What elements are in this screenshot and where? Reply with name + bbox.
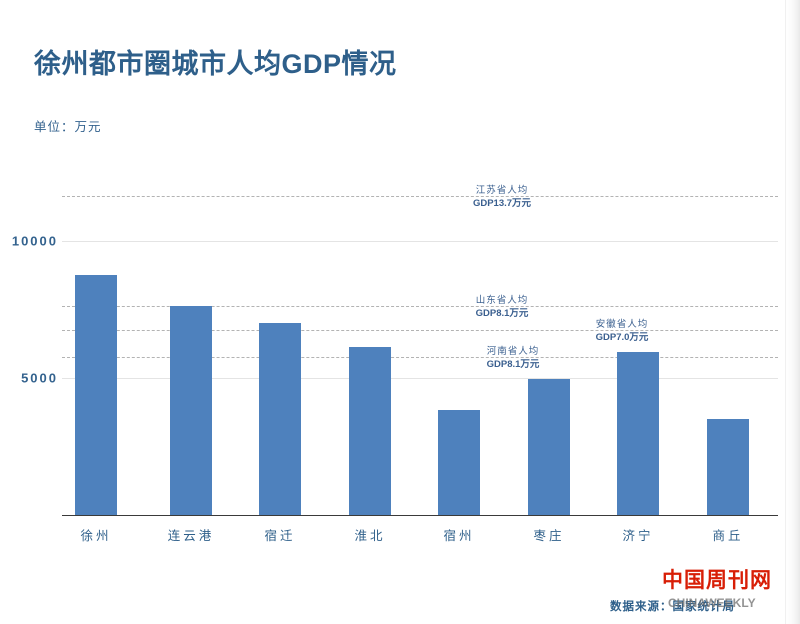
x-axis-label-zaozhuang: 枣庄 <box>533 525 564 544</box>
reference-line-jiangsu <box>62 196 778 197</box>
annotation-henan-line1: 河南省人均 <box>487 345 540 358</box>
bar-suqian[interactable] <box>259 323 301 515</box>
x-axis-label-lianyungang: 连云港 <box>168 525 215 544</box>
bar-xuzhou[interactable] <box>75 275 117 515</box>
annotation-shandong-line2: GDP8.1万元 <box>476 307 529 320</box>
annotation-jiangsu-line1: 江苏省人均 <box>473 184 531 197</box>
y-axis-tick-5000: 5000 <box>0 371 58 386</box>
annotation-anhui-line1: 安徽省人均 <box>596 318 649 331</box>
watermark-text: CHINAWEEKLY <box>668 596 756 610</box>
x-axis-label-jining: 济宁 <box>622 525 653 544</box>
annotation-shandong-line1: 山东省人均 <box>476 294 529 307</box>
bar-jining[interactable] <box>617 352 659 515</box>
bar-suzhou[interactable] <box>438 410 480 515</box>
chart-page: 徐州都市圈城市人均GDP情况 单位：万元 10000 5000 徐州 连云港 宿… <box>0 0 800 624</box>
bar-huaibei[interactable] <box>349 347 391 515</box>
annotation-anhui-line2: GDP7.0万元 <box>596 331 649 344</box>
x-axis-label-xuzhou: 徐州 <box>80 525 111 544</box>
x-axis-label-suqian: 宿迁 <box>264 525 295 544</box>
brand-logo-text: 中国周刊网 <box>662 564 772 594</box>
x-axis-label-suzhou: 宿州 <box>443 525 474 544</box>
bar-lianyungang[interactable] <box>170 306 212 515</box>
y-axis-tick-10000: 10000 <box>0 234 58 249</box>
x-axis-label-huaibei: 淮北 <box>354 525 385 544</box>
gridline-10000 <box>62 241 778 242</box>
annotation-henan: 河南省人均 GDP8.1万元 <box>487 345 540 371</box>
bar-shangqiu[interactable] <box>707 419 749 515</box>
annotation-henan-line2: GDP8.1万元 <box>487 358 540 371</box>
bar-zaozhuang[interactable] <box>528 379 570 515</box>
annotation-shandong: 山东省人均 GDP8.1万元 <box>476 294 529 320</box>
annotation-jiangsu: 江苏省人均 GDP13.7万元 <box>473 184 531 210</box>
annotation-anhui: 安徽省人均 GDP7.0万元 <box>596 318 649 344</box>
x-axis-label-shangqiu: 商丘 <box>712 525 743 544</box>
plot-area: 10000 5000 徐州 连云港 宿迁 淮北 宿州 枣庄 济宁 商丘 江苏省人… <box>0 0 800 624</box>
annotation-jiangsu-line2: GDP13.7万元 <box>473 197 531 210</box>
x-axis-baseline <box>62 515 778 516</box>
